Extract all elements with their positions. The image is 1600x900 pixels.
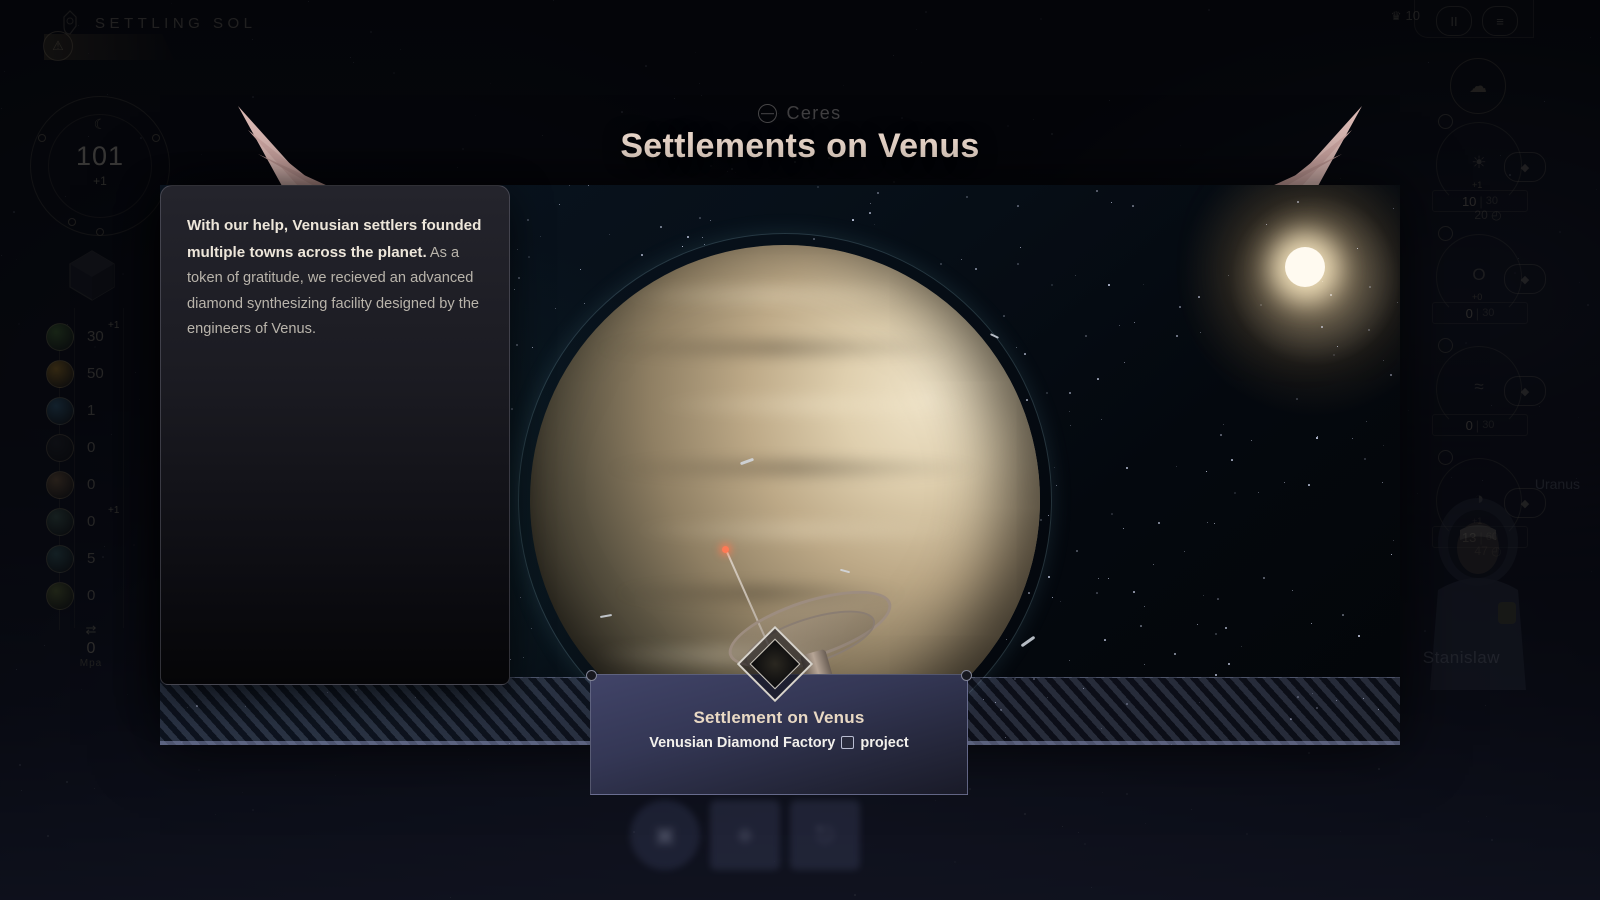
reward-project-card[interactable]: Settlement on Venus Venusian Diamond Fac…: [590, 674, 968, 795]
narrative-body: With our help, Venusian settlers founded…: [187, 213, 483, 343]
facility-card-icon[interactable]: ⎋: [790, 800, 860, 870]
ceres-symbol-icon: [758, 104, 777, 123]
page-title: Settlements on Venus: [0, 127, 1600, 166]
breadcrumb: Ceres: [0, 103, 1600, 124]
card-corner-dot: [961, 670, 972, 681]
card-corner-dot: [586, 670, 597, 681]
card-deck-icon: [841, 736, 854, 749]
card-subtitle-after: project: [860, 735, 908, 751]
station-beacon-light: [722, 546, 729, 553]
breadcrumb-label: Ceres: [786, 103, 841, 124]
card-tray: ▣ ⎈ ⎋: [630, 800, 880, 880]
card-title: Settlement on Venus: [591, 708, 967, 728]
project-card-icon[interactable]: ▣: [630, 800, 700, 870]
dome-card-icon[interactable]: ⎈: [710, 800, 780, 870]
card-subtitle-before: Venusian Diamond Factory: [649, 735, 835, 751]
narrative-text-panel: With our help, Venusian settlers founded…: [160, 185, 510, 685]
card-subtitle: Venusian Diamond Factory project: [591, 735, 967, 751]
sun-glow: [1285, 247, 1325, 287]
